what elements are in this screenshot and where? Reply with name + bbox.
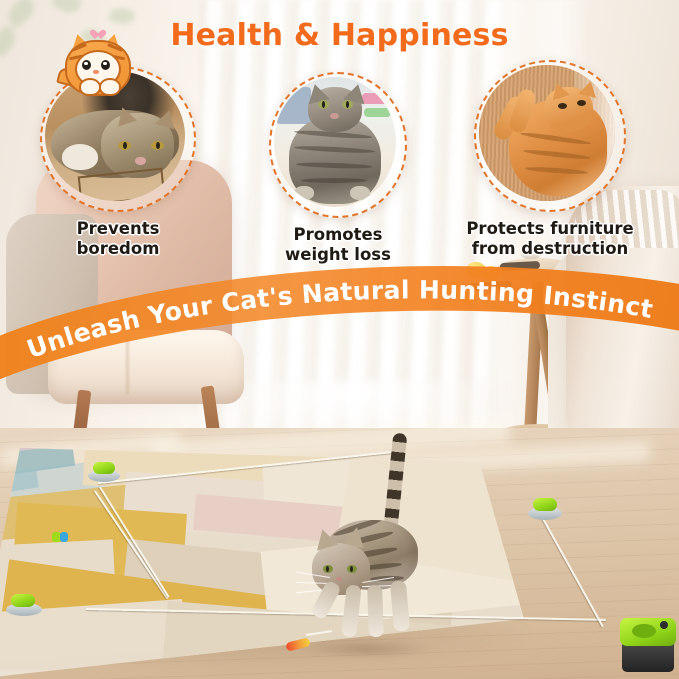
feature-photo-overweight-cat <box>274 77 396 207</box>
toy-device-main[interactable] <box>620 618 676 674</box>
feature-photo-frame <box>269 72 407 218</box>
toy-anchor-right-back[interactable] <box>528 498 562 520</box>
string-clip[interactable] <box>52 532 68 542</box>
heart-icon <box>95 30 105 39</box>
promo-image-root: Health & Happiness Prevents boredom <box>0 0 679 679</box>
feature-caption: Protects furniture from destruction <box>450 219 650 259</box>
feature-protects-furniture: Protects furniture from destruction <box>450 60 650 259</box>
feature-caption: Prevents boredom <box>18 219 218 259</box>
walking-tabby-cat <box>300 425 440 655</box>
cartoon-cat-sticker <box>57 24 133 96</box>
feature-caption: Promotes weight loss <box>238 225 438 265</box>
banner-text: Unleash Your Cat's Natural Hunting Insti… <box>23 275 655 364</box>
feature-photo-scratching-cat <box>479 65 615 201</box>
toy-anchor-left-front[interactable] <box>6 594 42 616</box>
toy-anchor-left-back[interactable] <box>88 462 120 482</box>
feature-photo-frame <box>474 60 626 212</box>
feature-promotes-weight-loss: Promotes weight loss <box>238 72 438 265</box>
hunting-instinct-banner: Unleash Your Cat's Natural Hunting Insti… <box>0 262 679 392</box>
